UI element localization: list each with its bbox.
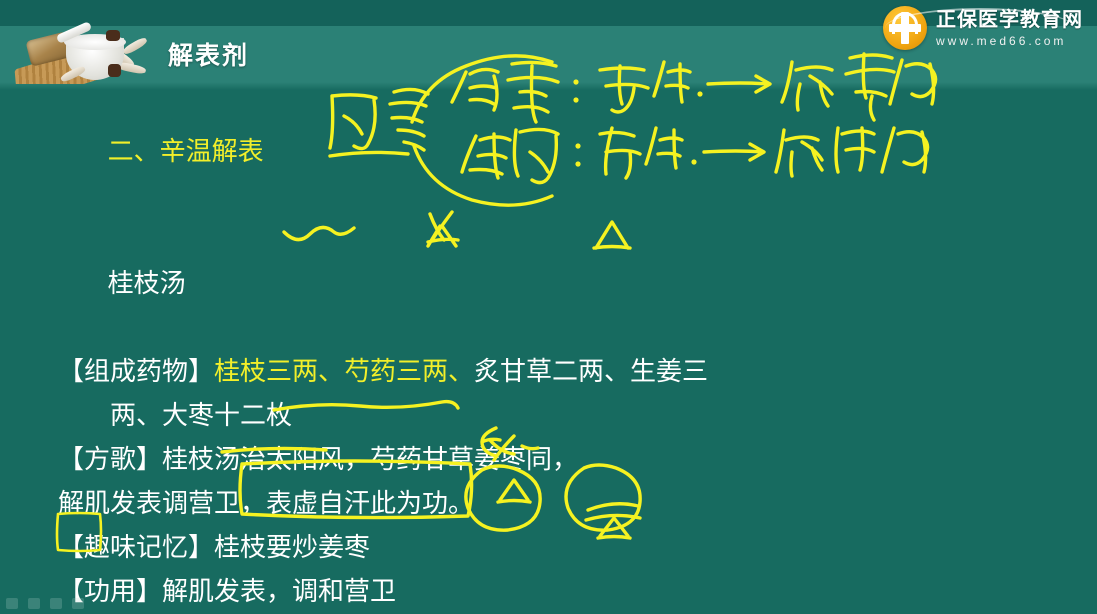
logo-website-url: www.med66.com [936, 35, 1083, 47]
text-segment: 桂枝三两、芍药三两、 [214, 357, 474, 387]
slide-canvas: 解表剂 正保医学教育网 www.med66.com 二、辛温解表 桂枝汤 【组成… [0, 0, 1097, 614]
logo-brand-name: 正保医学教育网 [936, 10, 1083, 30]
herb-mortar-photo [4, 12, 164, 84]
text-segment: 【趣味记忆】桂枝要炒姜枣 [58, 533, 370, 563]
text-segment: 炙甘草二两、生姜三 [474, 357, 708, 387]
med66-cross-logo-icon [883, 6, 927, 50]
content-line-mnemonic: 【趣味记忆】桂枝要炒姜枣 [0, 526, 1097, 570]
content-line-song-2: 解肌发表调营卫，表虚自汗此为功。 [0, 482, 1097, 526]
banner-title: 解表剂 [168, 36, 249, 72]
section-heading: 二、辛温解表 [0, 86, 1097, 218]
site-logo[interactable]: 正保医学教育网 www.med66.com [883, 6, 1083, 50]
content-line-composition-2: 两、大枣十二枚 [0, 394, 1097, 438]
content-line-function: 【功用】解肌发表，调和营卫 [0, 570, 1097, 614]
content-line-composition-1: 【组成药物】桂枝三两、芍药三两、炙甘草二两、生姜三 [0, 350, 1097, 394]
text-segment: 两、大枣十二枚 [110, 401, 292, 431]
content-line-song-1: 【方歌】桂枝汤治太阳风，芍药甘草姜枣同， [0, 438, 1097, 482]
slide-body: 二、辛温解表 桂枝汤 【组成药物】桂枝三两、芍药三两、炙甘草二两、生姜三两、大枣… [0, 86, 1097, 614]
text-segment: 【功用】解肌发表，调和营卫 [58, 577, 396, 607]
formula-name: 桂枝汤 [0, 218, 1097, 350]
content-lines: 【组成药物】桂枝三两、芍药三两、炙甘草二两、生姜三两、大枣十二枚【方歌】桂枝汤治… [0, 350, 1097, 614]
text-segment: 【方歌】桂枝汤治太阳风，芍药甘草姜枣同， [58, 445, 578, 475]
text-segment: 解肌发表调营卫，表虚自汗此为功。 [58, 489, 474, 519]
bottom-faint-marks [6, 598, 84, 609]
text-segment: 【组成药物】 [58, 357, 214, 387]
